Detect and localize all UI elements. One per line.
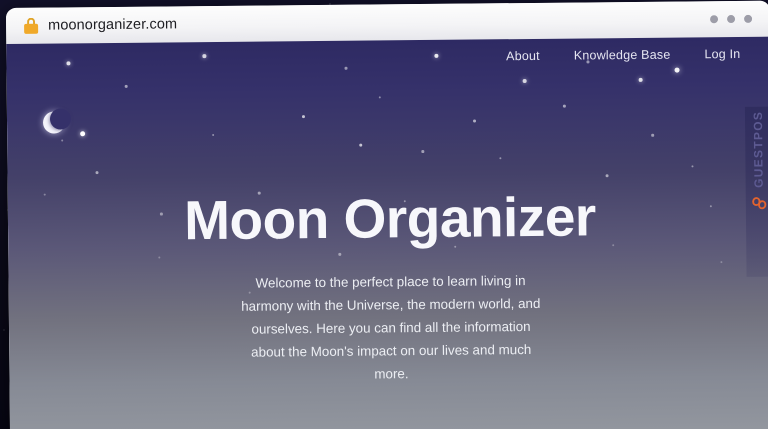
address-bar-url[interactable]: moonorganizer.com <box>48 16 177 33</box>
hero-section: Moon Organizer Welcome to the perfect pl… <box>8 187 768 389</box>
hero-paragraph: Welcome to the perfect place to learn li… <box>240 269 541 387</box>
site-navigation: About Knowledge Base Log In <box>506 47 740 63</box>
browser-window: moonorganizer.com About Knowledge Base L… <box>6 1 768 429</box>
nav-link-about[interactable]: About <box>506 49 540 63</box>
watermark-label: GUESTPOS <box>751 111 766 188</box>
guestpost-logo-icon <box>749 194 768 213</box>
minimize-dot-icon[interactable] <box>710 15 718 23</box>
nav-link-knowledge-base[interactable]: Knowledge Base <box>574 48 671 63</box>
window-controls <box>710 15 756 23</box>
page-viewport: About Knowledge Base Log In Moon Organiz… <box>6 37 768 429</box>
nav-link-log-in[interactable]: Log In <box>704 47 740 61</box>
star-icon <box>80 131 85 136</box>
close-dot-icon[interactable] <box>744 15 752 23</box>
maximize-dot-icon[interactable] <box>727 15 735 23</box>
guestpost-watermark: GUESTPOS <box>745 107 768 277</box>
crescent-moon-icon <box>43 111 65 133</box>
page-title: Moon Organizer <box>8 187 768 252</box>
padlock-icon <box>24 18 38 34</box>
